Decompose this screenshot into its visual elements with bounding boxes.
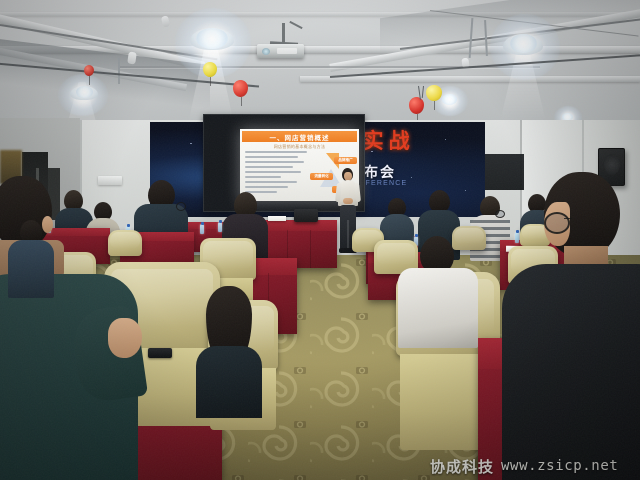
bottle-cap [201,222,204,225]
projector-vent [277,48,297,54]
glasses-icon [495,210,505,218]
conference-room-photo: 协成科技 与实战 下首创发布会 PARTNER CONFERENCE 一、网店营… [0,0,640,480]
watermark-company: 协成科技 [430,456,494,477]
balloon-red-left [233,80,248,97]
presenter-arm-right [354,183,361,202]
bottle-cap [516,230,519,233]
presenter-laptop [294,209,318,222]
pendant-light-left-core [76,86,93,98]
balloon-yellow-left [203,62,217,77]
torso-shirt [196,346,262,418]
torso-shirt [398,268,478,348]
foreground-person-leftsmall [8,220,54,296]
pendant-light-main-core [196,28,228,49]
watermark: 协成科技 www.zsicp.net [430,456,636,476]
foreground-person-midright [398,236,478,346]
presenter-leg-gap [347,220,349,249]
balloon-yellow-right [426,85,442,101]
presenter-hands [343,198,353,204]
slide-pill-1: 品牌推广 [334,157,357,164]
balloon-red-small-left [84,65,94,76]
glasses-icon [176,202,186,211]
slide-header-bar: 一、网店营销概述 [242,131,357,142]
glasses-icon [544,212,570,234]
water-bottle-7 [515,232,519,243]
pendant-light-far-core [442,94,457,105]
glasses-bridge [564,218,572,219]
ceiling-projector [257,44,304,58]
mobile-phone-on-table [148,348,172,358]
slide-pill-2: 流量转化 [310,173,333,180]
presenter-papers [268,216,286,221]
watermark-url: www.zsicp.net [501,458,618,474]
slide-body-text [245,151,307,196]
torso-shirt [8,240,54,298]
balloon-red-right [409,97,424,114]
slide-header-text: 一、网店营销概述 [270,132,330,142]
water-bottle-4 [218,222,222,232]
water-bottle-3 [200,224,204,234]
projector-lens [262,48,270,55]
slide-subtitle-text: 网店营销的基本概念与方法 [240,144,359,150]
pendant-light-right-core [510,34,537,53]
lamp-rod-c [118,58,120,84]
torso-shirt [502,264,640,480]
foreground-person-right [520,172,640,480]
bottle-cap [219,220,222,223]
ceiling-beam-right [300,76,640,82]
foreground-person-midcenter [192,286,266,416]
hand [108,318,142,358]
